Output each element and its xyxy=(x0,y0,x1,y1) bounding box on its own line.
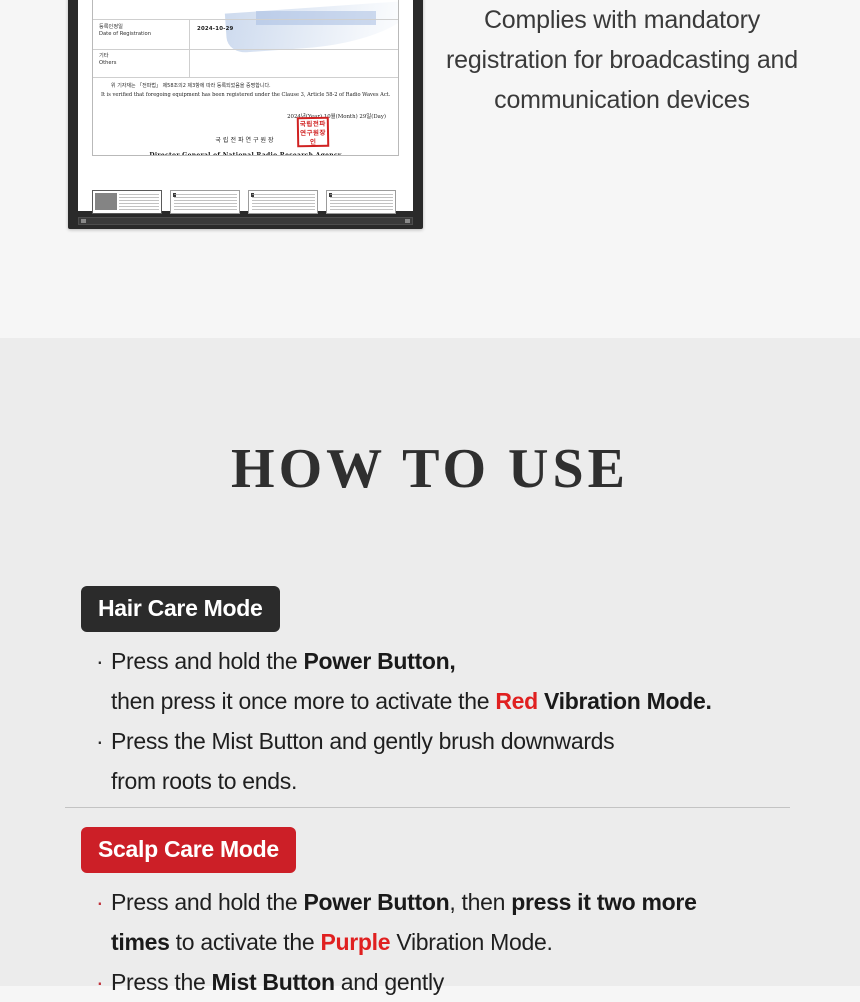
thumbnail-text-lines xyxy=(174,194,237,210)
thumbnail-page-1[interactable] xyxy=(92,190,162,214)
bullet-icon: · xyxy=(96,641,103,681)
thumbnail-text-lines xyxy=(252,194,315,210)
product-detail-page: 등록인정일Date of Registration 2024-10-29 기타O… xyxy=(0,0,860,986)
instruction-text: Press and hold the Power Button,then pre… xyxy=(111,648,712,714)
scalp-care-instructions: · Press and hold the Power Button, then … xyxy=(96,882,816,1002)
thumbnail-page-2[interactable] xyxy=(170,190,240,214)
page-thumbnail-strip[interactable] xyxy=(92,190,397,212)
instruction-text: Press the Mist Button and gently brush d… xyxy=(111,728,614,794)
horizontal-scrollbar[interactable] xyxy=(78,217,413,225)
list-item: · Press the Mist Button and gently brush… xyxy=(96,721,816,801)
thumbnail-page-3[interactable] xyxy=(248,190,318,214)
table-rule-mid xyxy=(93,49,398,50)
table-rule-top xyxy=(93,19,398,20)
row-value-registration-date: 2024-10-29 xyxy=(197,26,233,32)
list-item: · Press the Mist Button and gently xyxy=(96,962,816,1002)
certificate-document-viewer[interactable]: 등록인정일Date of Registration 2024-10-29 기타O… xyxy=(68,0,423,229)
section-divider xyxy=(65,807,790,808)
scrollbar-left-nub[interactable] xyxy=(81,219,86,223)
page-title: HOW TO USE xyxy=(0,437,860,501)
list-item: · Press and hold the Power Button,then p… xyxy=(96,641,816,721)
table-rule-bottom xyxy=(93,77,398,78)
watermark-bar xyxy=(256,11,376,25)
viewer-canvas: 등록인정일Date of Registration 2024-10-29 기타O… xyxy=(78,0,413,211)
certification-caption: Complies with mandatory registration for… xyxy=(430,0,814,120)
thumbnail-page-4[interactable] xyxy=(326,190,396,214)
agency-name-korean: 국립전파연구원장 xyxy=(93,135,398,144)
instruction-text: Press and hold the Power Button, then pr… xyxy=(111,889,697,955)
watermark-swoosh xyxy=(225,0,399,53)
thumbnail-text-lines xyxy=(119,194,159,210)
certification-section: 등록인정일Date of Registration 2024-10-29 기타O… xyxy=(0,0,860,338)
thumbnail-seal-preview xyxy=(95,193,117,210)
bullet-icon: · xyxy=(96,721,103,761)
statement-korean: 위 기자재는 「전파법」 제58조의2 제3항에 따라 등록되었음을 증명합니다… xyxy=(111,82,271,89)
instruction-text: Press the Mist Button and gently xyxy=(111,969,444,995)
hair-care-mode-badge: Hair Care Mode xyxy=(81,586,280,632)
table-column-divider xyxy=(189,19,190,77)
scrollbar-right-nub[interactable] xyxy=(405,219,410,223)
how-to-use-section: HOW TO USE Hair Care Mode · Press and ho… xyxy=(0,338,860,986)
hair-care-instructions: · Press and hold the Power Button,then p… xyxy=(96,641,816,801)
scalp-care-mode-badge: Scalp Care Mode xyxy=(81,827,296,873)
bullet-icon: · xyxy=(96,882,103,922)
thumbnail-text-lines xyxy=(330,194,393,210)
row-label-others: 기타Others xyxy=(99,53,116,67)
row-label-registration-date: 등록인정일Date of Registration xyxy=(99,24,151,38)
bullet-icon: · xyxy=(96,962,103,1002)
agency-name-english: Director General of National Radio Resea… xyxy=(93,152,398,156)
statement-english: It is verified that foregoing equipment … xyxy=(101,91,392,100)
certificate-paper: 등록인정일Date of Registration 2024-10-29 기타O… xyxy=(92,0,399,156)
list-item: · Press and hold the Power Button, then … xyxy=(96,882,816,962)
